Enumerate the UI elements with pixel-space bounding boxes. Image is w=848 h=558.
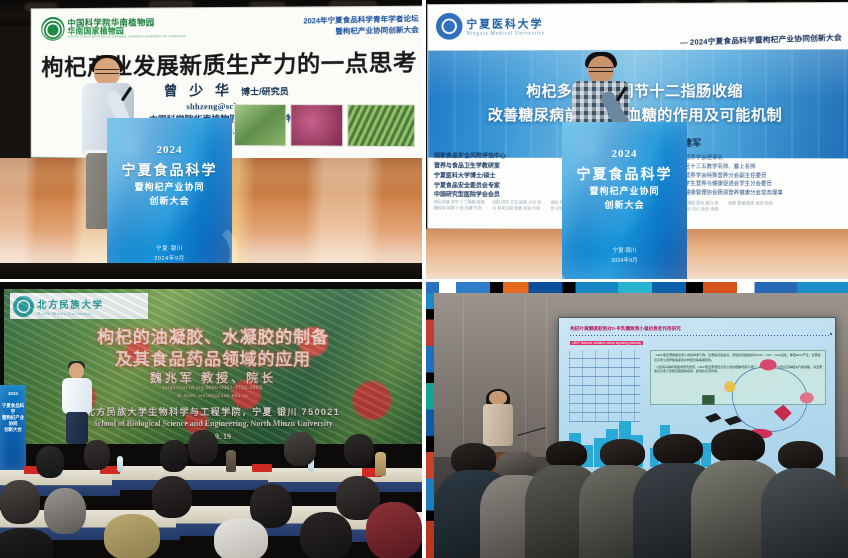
podium-city: 宁夏·银川 (107, 244, 232, 252)
lecture-photo: 枸杞叶黄酮提取物对D-半乳糖致衰小鼠抗衰老作用研究 LBLF reduces o… (434, 293, 848, 558)
audience-head (0, 480, 40, 524)
audience-head (366, 502, 422, 558)
slide-title-line-1: 枸杞的油凝胶、水凝胶的制备 (4, 323, 422, 348)
slide-photo (234, 104, 286, 146)
credential-item: 营养与食品卫生学教研室 (434, 161, 506, 171)
credential-item: 自治区十三五教学名师、塞上名师 (674, 163, 783, 172)
podium-banner: 2024 宁夏食品科学 暨枸杞产业协同 创新大会 宁夏·银川 2024年9月 (107, 118, 232, 279)
podium-line-1: 宁夏食品科学 (562, 164, 687, 184)
organization-logo: 北方民族大学 North Minzu University (10, 293, 148, 319)
logo-line-1: 宁夏医科大学 (466, 15, 545, 31)
photo-panel-bottom-right: 枸杞叶黄酮提取物对D-半乳糖致衰小鼠抗衰老作用研究 LBLF reduces o… (422, 279, 848, 558)
audience-head (653, 434, 703, 466)
conference-table (112, 466, 272, 490)
slide-photo (290, 104, 343, 147)
photo-panel-top-left: 中国科学院华南植物园 华南国家植物园 SOUTH CHINA BOTANICAL… (0, 0, 422, 279)
podium-month: 2024年9月 (562, 256, 687, 264)
botanical-garden-seal-icon (41, 17, 64, 41)
audience-area (434, 436, 848, 558)
podium-banner: 2024 宁夏食品科学 暨枸杞产业协同 创新大会 宁夏·银川 2024年9月 (562, 122, 687, 279)
head (69, 363, 84, 379)
metabolic-cycle-diagram (559, 318, 834, 456)
photo-panel-top-right: 宁夏医科大学 Ningxia Medical University 2024宁夏… (422, 0, 848, 279)
audience-head (152, 476, 192, 518)
audience-head (344, 434, 374, 466)
wall-seam (463, 293, 464, 457)
audience-head (284, 432, 316, 466)
credential-item: 国家食品安全风险评估中心 (434, 152, 506, 162)
conference-header: 2024年宁夏食品科学青年学者论坛 暨枸杞产业协同创新大会 (304, 13, 420, 38)
torso-shirt (62, 378, 92, 414)
credential-item: 宁夏医科大学博士/硕士 (434, 171, 506, 181)
audience-head (188, 430, 218, 464)
audience-head (778, 441, 824, 470)
podium-line-1: 宁夏食品科学 (107, 160, 232, 180)
audience-head (160, 440, 188, 472)
audience-head (496, 451, 537, 478)
credential-item: 宁夏食品安全委员会专家 (434, 181, 506, 191)
foreground-shadow (0, 263, 422, 279)
speaker-title: 博士/研究员 (241, 86, 289, 96)
credential-item: 中国营养学会特殊营养分会副主任委员 (674, 172, 783, 181)
organization-logo: 宁夏医科大学 Ningxia Medical University (436, 8, 614, 43)
name-card (252, 464, 272, 472)
audience-area (0, 436, 422, 558)
photo-panel-bottom-left: 北方民族大学 North Minzu University 枸杞的油凝胶、水凝胶… (0, 279, 422, 558)
rollup-line-2: 暨枸杞产业协同 (0, 415, 26, 427)
photo-grid: 中国科学院华南植物园 华南国家植物园 SOUTH CHINA BOTANICAL… (0, 0, 848, 558)
podium-line-3: 创新大会 (562, 198, 687, 211)
ceiling-light (150, 2, 192, 8)
eyeglasses-icon (589, 67, 613, 72)
wall-seam (546, 293, 547, 457)
audience-head (711, 429, 765, 463)
university-seal-icon (436, 12, 463, 39)
organization-logo: 中国科学院华南植物园 华南国家植物园 SOUTH CHINA BOTANICAL… (41, 14, 194, 42)
podium-year: 2024 (107, 144, 232, 156)
audience-shoulders (761, 468, 848, 558)
audience-head (300, 512, 352, 558)
audience-head (546, 441, 587, 468)
rollup-line-1: 宁夏食品科学 (0, 403, 26, 415)
credential-item: 中国学生营养与健康促进会学生分会委员 (674, 180, 783, 189)
podium-month: 2024年9月 (107, 254, 232, 262)
audience-head (104, 514, 160, 558)
audience-head (84, 440, 110, 470)
podium-line-2: 暨枸杞产业协同 (107, 180, 232, 193)
thermos (226, 450, 236, 472)
conference-header-line-2: 暨枸杞产业协同创新大会 (304, 24, 419, 38)
credentials-right: 宁夏营养学会理事长 自治区十三五教学名师、塞上名师 中国营养学会特殊营养分会副主… (674, 154, 783, 198)
podium-line-3: 创新大会 (107, 194, 232, 207)
thermos (375, 452, 386, 476)
slide-title-line-1: 枸杞多糖通过调节十二指肠收缩 (428, 80, 844, 102)
audience-head (214, 518, 268, 558)
grid-gutter-horizontal (0, 279, 848, 282)
slide-photo (347, 104, 415, 147)
rollup-line-3: 创新大会 (0, 427, 26, 433)
rollup-year: 2024 (0, 391, 26, 396)
university-seal-icon (13, 296, 34, 317)
presenter-person (60, 363, 94, 443)
audience-head (44, 488, 86, 534)
podium-year: 2024 (562, 148, 687, 160)
audience-head (600, 439, 646, 468)
audience-head (36, 446, 64, 478)
logo-line-1: 北方民族大学 (37, 297, 104, 311)
podium-city: 宁夏·银川 (562, 246, 687, 254)
speaker-name: 曾 少 华 (164, 82, 234, 99)
conference-header: 2024宁夏食品科学暨枸杞产业协同创新大会 (680, 32, 842, 48)
logo-line-3: SOUTH CHINA BOTANICAL GARDEN, CHINESE AC… (67, 35, 186, 39)
podium-line-2: 暨枸杞产业协同 (562, 184, 687, 197)
logo-line-2: North Minzu University (37, 311, 104, 316)
credential-item: 宁夏营养学会理事长 (674, 154, 783, 163)
water-bottle (117, 456, 123, 472)
logo-line-2: Ningxia Medical University (466, 31, 545, 36)
head (489, 391, 507, 405)
credential-item: 中国健康管理协会肠道营养健康分会常务理事 (674, 189, 783, 198)
credentials-left: 国家食品安全风险评估中心 营养与食品卫生学教研室 宁夏医科大学博士/硕士 宁夏食… (434, 152, 506, 201)
eyeglasses-icon (95, 69, 119, 74)
